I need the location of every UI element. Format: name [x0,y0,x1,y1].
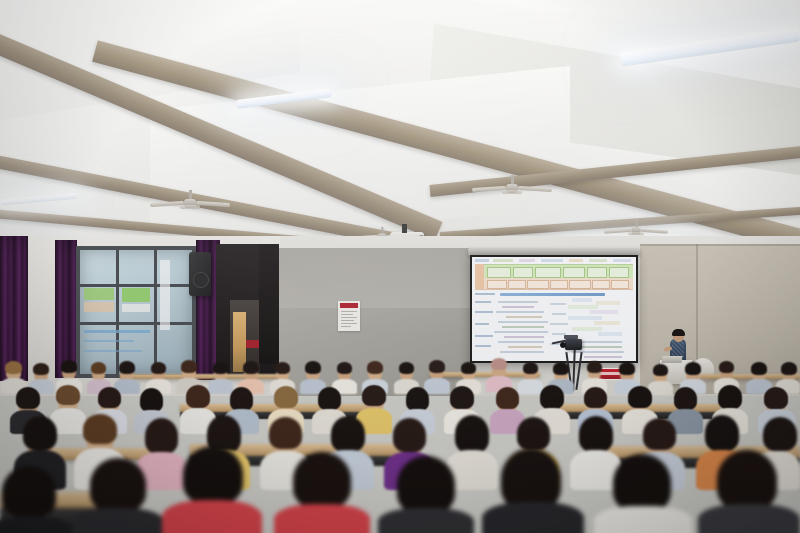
purple-curtain [55,240,77,378]
video-camera [565,339,582,350]
wall-speaker [189,252,211,296]
wall-notice-poster [338,301,360,331]
ceiling [0,0,800,250]
purple-curtain [0,236,28,381]
slide-title-line [500,293,605,296]
projection-screen [472,257,636,361]
slide-orange-band [475,278,633,290]
slide-green-band [475,264,633,279]
window [76,246,196,378]
exit-sign [246,340,260,348]
dark-wall-recess [259,244,279,364]
slide-row-label [475,264,484,289]
presentation-slide [472,257,636,361]
presenter-hair [672,329,685,336]
fluorescent-tube-light [0,193,78,206]
presenter-laptop [662,356,683,363]
lecture-hall-photo [0,0,800,533]
